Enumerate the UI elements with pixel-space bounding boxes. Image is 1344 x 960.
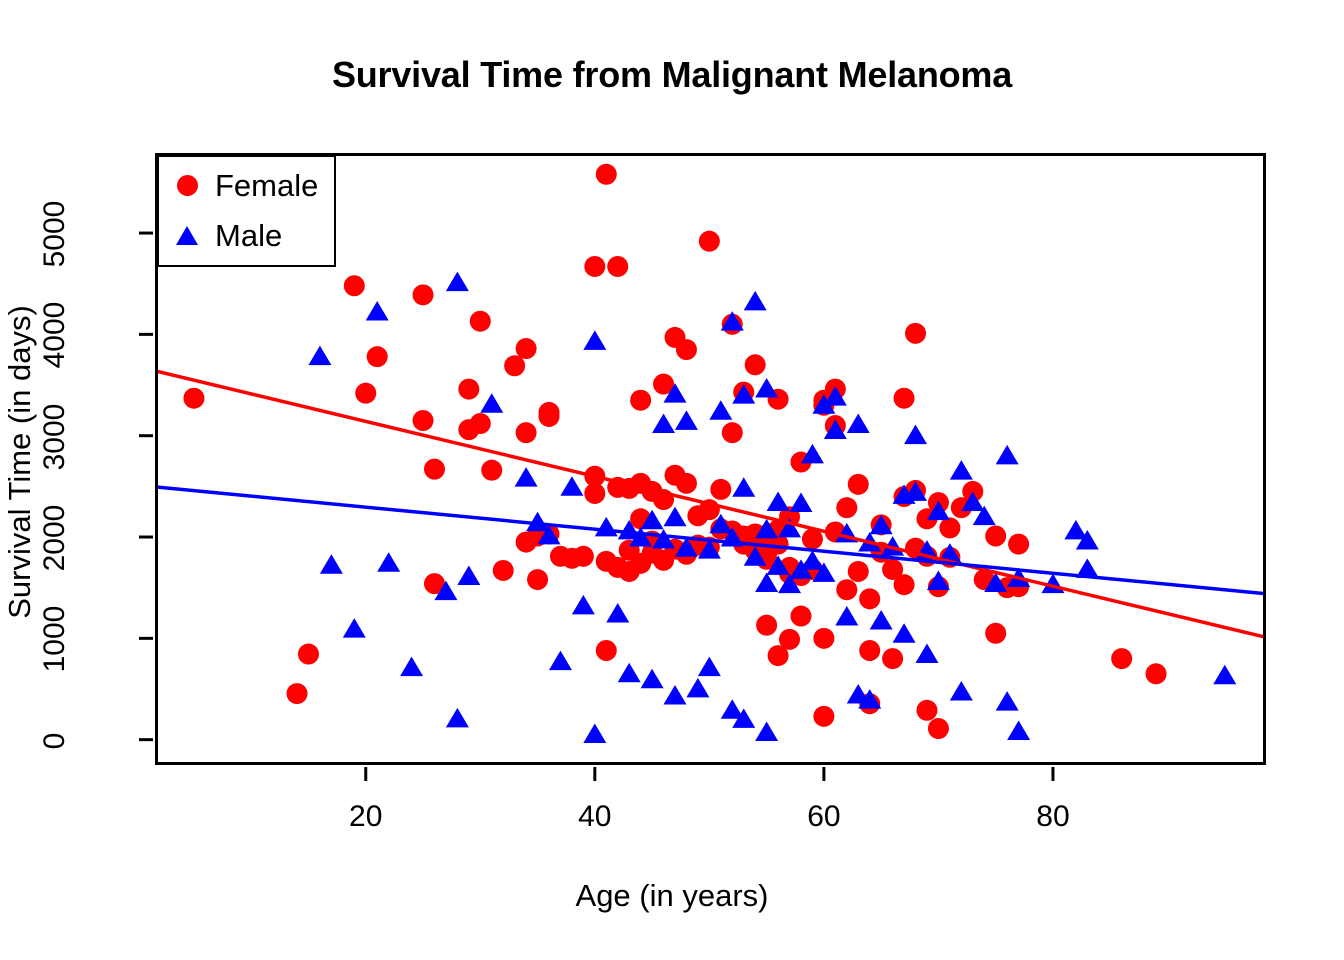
data-point-male [755,573,778,593]
x-tick-label: 80 [1013,800,1093,834]
data-point-male [366,301,389,321]
page-title: Survival Time from Malignant Melanoma [0,54,1344,96]
data-point-female [848,474,869,495]
data-point-male [675,410,698,430]
data-point-male [950,681,973,701]
data-point-female [183,388,204,409]
data-point-male [686,678,709,698]
data-point-female [584,483,605,504]
data-point-male [767,491,790,511]
data-point-male [915,643,938,663]
data-point-male [400,657,423,677]
data-point-male [560,476,583,496]
data-point-female [607,256,628,277]
data-point-female [1008,534,1029,555]
data-point-female [516,338,537,359]
data-point-female [298,644,319,665]
legend-label-male: Male [215,220,282,251]
data-point-female [676,473,697,494]
data-point-male [709,400,732,420]
data-point-male [789,493,812,513]
data-point-female [894,574,915,595]
data-point-male [847,413,870,433]
data-point-female [470,413,491,434]
data-point-female [493,560,514,581]
data-point-female [1146,663,1167,684]
data-point-female [859,588,880,609]
filled-triangle-icon [159,226,215,245]
figure-canvas: Survival Time from Malignant Melanoma 20… [0,0,1344,960]
data-point-female [344,275,365,296]
legend-item-female: Female [159,163,334,207]
data-point-female [539,406,560,427]
data-point-female [836,579,857,600]
data-point-male [377,552,400,572]
trend-lines [155,371,1266,637]
data-point-female [710,479,731,500]
data-point-female [813,628,834,649]
data-point-female [882,648,903,669]
x-tick-label: 20 [326,800,406,834]
data-point-female [527,569,548,590]
data-point-female [985,526,1006,547]
data-point-male [652,413,675,433]
data-point-female [573,546,594,567]
data-point-male [835,606,858,626]
series-male-markers [308,272,1236,743]
data-point-male [515,467,538,487]
x-axis-label: Age (in years) [0,878,1344,914]
data-point-female [745,354,766,375]
data-point-female [355,383,376,404]
data-point-male [744,291,767,311]
data-point-male [950,460,973,480]
data-point-male [870,610,893,630]
data-point-male [308,346,331,366]
data-point-male [343,618,366,638]
data-point-female [470,311,491,332]
data-point-female [699,231,720,252]
data-point-male [996,691,1019,711]
data-point-male [583,724,606,744]
legend-label-female: Female [215,170,318,201]
data-point-female [413,410,434,431]
data-point-female [939,517,960,538]
data-point-female [287,683,308,704]
data-point-male [457,565,480,585]
data-point-female [596,164,617,185]
y-axis-label: Survival Time (in days) [2,152,38,772]
data-point-female [928,718,949,739]
data-point-male [446,708,469,728]
data-point-male [698,657,721,677]
legend-item-male: Male [159,213,334,257]
data-point-female [676,339,697,360]
data-point-female [458,379,479,400]
data-point-male [1007,720,1030,740]
data-point-female [367,346,388,367]
data-point-male [618,663,641,683]
data-point-male [801,550,824,570]
data-point-female [504,355,525,376]
x-tick-label: 40 [555,800,635,834]
data-point-female [516,422,537,443]
data-point-male [663,685,686,705]
data-point-male [606,603,629,623]
data-point-female [779,629,800,650]
data-point-male [572,595,595,615]
data-point-female [630,390,651,411]
data-point-female [584,256,605,277]
data-point-female [596,640,617,661]
data-point-female [813,706,834,727]
data-point-female [481,460,502,481]
data-point-female [916,700,937,721]
data-point-male [663,507,686,527]
filled-circle-icon [159,175,215,196]
data-point-male [893,623,916,643]
data-point-male [446,272,469,292]
data-point-female [1111,648,1132,669]
data-point-female [413,284,434,305]
data-point-female [859,640,880,661]
data-point-male [320,554,343,574]
legend: Female Male [157,155,336,267]
data-point-female [894,388,915,409]
data-point-male [755,722,778,742]
data-point-female [836,497,857,518]
data-point-female [848,561,869,582]
data-point-male [641,669,664,689]
data-point-male [1213,665,1236,685]
data-point-male [480,393,503,412]
data-point-female [790,606,811,627]
data-point-male [996,445,1019,465]
data-point-female [985,623,1006,644]
data-point-female [424,459,445,480]
data-point-male [755,378,778,398]
data-point-male [904,425,927,445]
data-point-female [905,323,926,344]
data-point-male [732,477,755,497]
data-point-male [595,517,618,537]
x-tick-label: 60 [784,800,864,834]
data-point-female [756,615,777,636]
data-point-male [549,651,572,671]
data-point-male [583,330,606,350]
y-tick-label: 5000 [38,174,72,294]
data-point-female [722,422,743,443]
